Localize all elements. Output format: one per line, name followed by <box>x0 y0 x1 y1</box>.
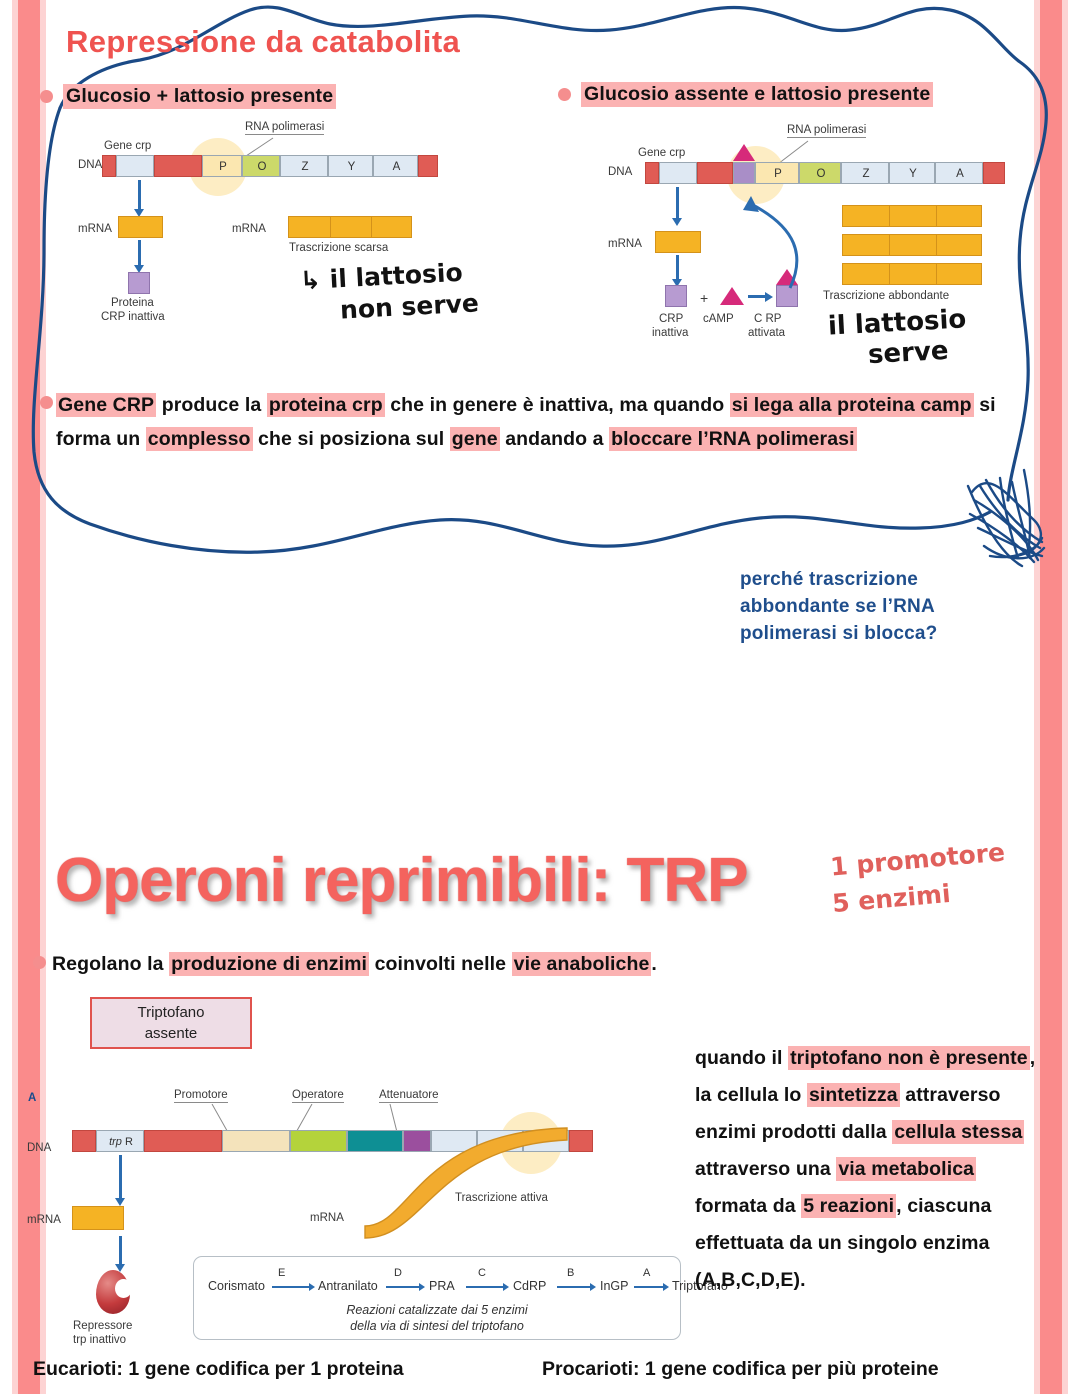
section2-bullet-dot-wrap <box>33 956 46 969</box>
dna-seg-red-left <box>645 162 659 184</box>
dna-seg-a: A <box>935 162 983 184</box>
dna-seg-label-A: A <box>936 163 984 185</box>
dna-seg-label-A: A <box>374 156 419 178</box>
trp-seg-red-left <box>72 1130 96 1152</box>
arrow-dna-to-mrna <box>138 180 141 210</box>
pathway-caption-line1: Reazioni catalizzate dai 5 enzimi <box>194 1303 680 1317</box>
mrna-box-crp <box>655 231 701 253</box>
triptofano-box-line1: Triptofano <box>138 1002 205 1023</box>
dna-seg-red-left <box>102 155 116 177</box>
dna-seg-red-mid <box>697 162 733 184</box>
mrna-transcript-2 <box>842 234 982 256</box>
dna-seg-promotore: P <box>202 155 242 177</box>
bullet-glucosio-assente-lattosio-presente: Glucosio assente e lattosio presente <box>558 82 933 107</box>
mrna-box-operon <box>288 216 412 238</box>
dna-seg-label-Z: Z <box>842 163 890 185</box>
pathway-box: Corismato E Antranilato D PRA C CdRP B I… <box>193 1256 681 1340</box>
blue-question-line-1: perché trascrizione <box>740 566 1040 593</box>
section2-bullet-text: Regolano la produzione di enzimi coinvol… <box>52 947 912 981</box>
camp-triangle-icon <box>733 144 755 161</box>
pathway-enzyme-0: E <box>278 1267 285 1279</box>
label-mrna-left: mRNA <box>78 223 112 235</box>
handwriting-1-promotore: 1 promotore <box>829 837 1006 881</box>
label-attenuatore: Attenuatore <box>379 1089 438 1103</box>
label-trascrizione-scarsa: Trascrizione scarsa <box>289 242 388 254</box>
slide-page: Repressione da catabolita Glucosio + lat… <box>0 0 1080 1394</box>
left-stripe-glow-inner <box>40 0 46 1394</box>
dna-seg-operatore: O <box>242 155 280 177</box>
label-operatore: Operatore <box>292 1089 344 1103</box>
label-trascrizione-attiva: Trascrizione attiva <box>455 1192 548 1204</box>
handwriting-lattosio-serve-line2: serve <box>867 336 949 370</box>
arrow-mrna-to-protein <box>676 255 679 280</box>
pathway-enzyme-3: B <box>567 1267 574 1279</box>
pathway-enzyme-1: D <box>394 1267 402 1279</box>
trpR-italic: trp <box>109 1136 122 1148</box>
mrna-transcript-ribbon <box>355 1126 605 1246</box>
label-promotore: Promotore <box>174 1089 228 1103</box>
label-gene-crp: Gene crp <box>638 147 685 159</box>
label-dna: DNA <box>78 159 102 171</box>
label-mrna: mRNA <box>608 238 642 250</box>
pathway-enzyme-2: C <box>478 1267 486 1279</box>
protein-crp-inactive-icon <box>128 272 150 294</box>
arrow-trpR-to-mrna <box>119 1155 122 1199</box>
blue-handwritten-question: perché trascrizione abbondante se l’RNA … <box>740 566 1040 647</box>
bullet-dot-icon <box>40 90 53 103</box>
left-border-stripe <box>18 0 40 1394</box>
label-mrna-operon: mRNA <box>310 1212 344 1224</box>
label-dna: DNA <box>27 1142 51 1154</box>
arrow-mrna-to-protein <box>138 240 141 266</box>
section-title-operoni-trp: Operoni reprimibili: TRP <box>55 845 748 916</box>
trp-seg-operatore <box>290 1130 347 1152</box>
arrowhead-dna-to-mrna <box>672 218 682 226</box>
label-gene-crp: Gene crp <box>104 140 151 152</box>
pathway-node-3: CdRP <box>513 1279 546 1293</box>
dna-seg-gene-crp <box>659 162 697 184</box>
handwriting-5-enzimi: 5 enzimi <box>831 879 952 918</box>
trp-seg-label-trpR: trp R <box>97 1131 145 1153</box>
trp-seg-red-mid <box>144 1130 222 1152</box>
triptofano-assente-box: Triptofano assente <box>90 997 252 1049</box>
triptofano-box-line2: assente <box>145 1023 198 1044</box>
dna-seg-operatore: O <box>799 162 841 184</box>
dna-seg-red-right <box>418 155 438 177</box>
dna-seg-z: Z <box>280 155 328 177</box>
right-column-explanation: quando il triptofano non è presente, la … <box>695 1040 1045 1299</box>
repressore-trp-inattivo-icon <box>96 1270 130 1314</box>
dna-seg-label-P: P <box>756 163 800 185</box>
label-proteina: Proteina <box>111 297 154 309</box>
protein-crp-inactive-icon <box>665 285 687 307</box>
paragraph-bullet-dot-wrap <box>40 396 53 409</box>
arrow-camp-binding <box>748 295 766 298</box>
pathway-node-1: Antranilato <box>318 1279 378 1293</box>
pathway-node-0: Corismato <box>208 1279 265 1293</box>
label-trascrizione-abbondante: Trascrizione abbondante <box>823 290 949 302</box>
trp-seg-trpR: trp R <box>96 1130 144 1152</box>
panel-letter-a: A <box>28 1092 36 1104</box>
arrowhead-camp-binding <box>765 292 773 302</box>
label-rna-polimerasi: RNA polimerasi <box>787 124 866 138</box>
dna-seg-y: Y <box>328 155 373 177</box>
bullet-glucosio-lattosio-presente: Glucosio + lattosio presente <box>40 84 336 109</box>
label-mrna-left: mRNA <box>27 1214 61 1226</box>
label-crp-attivata-line1: C RP <box>754 313 781 325</box>
arrowhead-trpR-to-mrna <box>115 1198 125 1206</box>
label-mrna-operon: mRNA <box>232 223 266 235</box>
dna-seg-crp-binding-site <box>733 162 755 184</box>
right-stripe-glow-outer <box>1062 0 1068 1394</box>
dna-seg-label-Y: Y <box>890 163 936 185</box>
dna-seg-gene-crp <box>116 155 154 177</box>
pathway-caption-line2: della via di sintesi del triptofano <box>194 1319 680 1333</box>
arrow-crp-to-dna <box>735 186 805 291</box>
arrow-dna-to-mrna <box>676 187 679 219</box>
label-crp-inattiva: CRP inattiva <box>101 311 165 323</box>
blue-question-line-3: polimerasi si blocca? <box>740 620 1040 647</box>
label-crp-inattiva: inattiva <box>652 327 688 339</box>
dna-seg-label-O: O <box>243 156 281 178</box>
dna-seg-red-mid <box>154 155 202 177</box>
label-rna-polimerasi: RNA polimerasi <box>245 121 324 135</box>
dna-seg-red-right <box>983 162 1005 184</box>
mrna-transcript-1 <box>842 205 982 227</box>
plus-sign: + <box>700 290 708 306</box>
arrow-mrna-to-repressore <box>119 1236 122 1266</box>
bullet-label: Glucosio assente e lattosio presente <box>581 82 933 107</box>
footer-eucarioti: Eucarioti: 1 gene codifica per 1 protein… <box>33 1358 404 1381</box>
mrna-box-trpR <box>72 1206 124 1230</box>
dna-seg-y: Y <box>889 162 935 184</box>
pathway-node-4: InGP <box>600 1279 629 1293</box>
label-dna: DNA <box>608 166 632 178</box>
trp-seg-promotore <box>222 1130 290 1152</box>
bullet-dot-icon <box>558 88 571 101</box>
dna-seg-a: A <box>373 155 418 177</box>
pathway-node-2: PRA <box>429 1279 455 1293</box>
dna-seg-z: Z <box>841 162 889 184</box>
page-title-repressione: Repressione da catabolita <box>66 24 460 60</box>
dna-seg-label-O: O <box>800 163 842 185</box>
mrna-box-crp <box>118 216 163 238</box>
label-crp-attivata-line2: attivata <box>748 327 785 339</box>
dna-seg-label-Y: Y <box>329 156 374 178</box>
bullet-dot-icon <box>40 396 53 409</box>
label-crp: CRP <box>659 313 683 325</box>
bullet-label: Glucosio + lattosio presente <box>63 84 336 109</box>
dna-seg-label-Z: Z <box>281 156 329 178</box>
footer-procarioti: Procarioti: 1 gene codifica per più prot… <box>542 1358 939 1381</box>
label-repressore: Repressore <box>73 1320 132 1332</box>
bullet-dot-icon <box>33 956 46 969</box>
blue-question-line-2: abbondante se l’RNA <box>740 593 1040 620</box>
mrna-transcript-3 <box>842 263 982 285</box>
label-trp-inattivo: trp inattivo <box>73 1334 126 1346</box>
dna-seg-label-P: P <box>203 156 243 178</box>
label-camp: cAMP <box>703 313 734 325</box>
trpR-rest: R <box>125 1136 133 1148</box>
paragraph-gene-crp: Gene CRP produce la proteina crp che in … <box>56 388 996 456</box>
handwriting-lattosio-non-serve-line2: non serve <box>339 288 479 324</box>
pathway-enzyme-4: A <box>643 1267 650 1279</box>
dna-seg-promotore: P <box>755 162 799 184</box>
